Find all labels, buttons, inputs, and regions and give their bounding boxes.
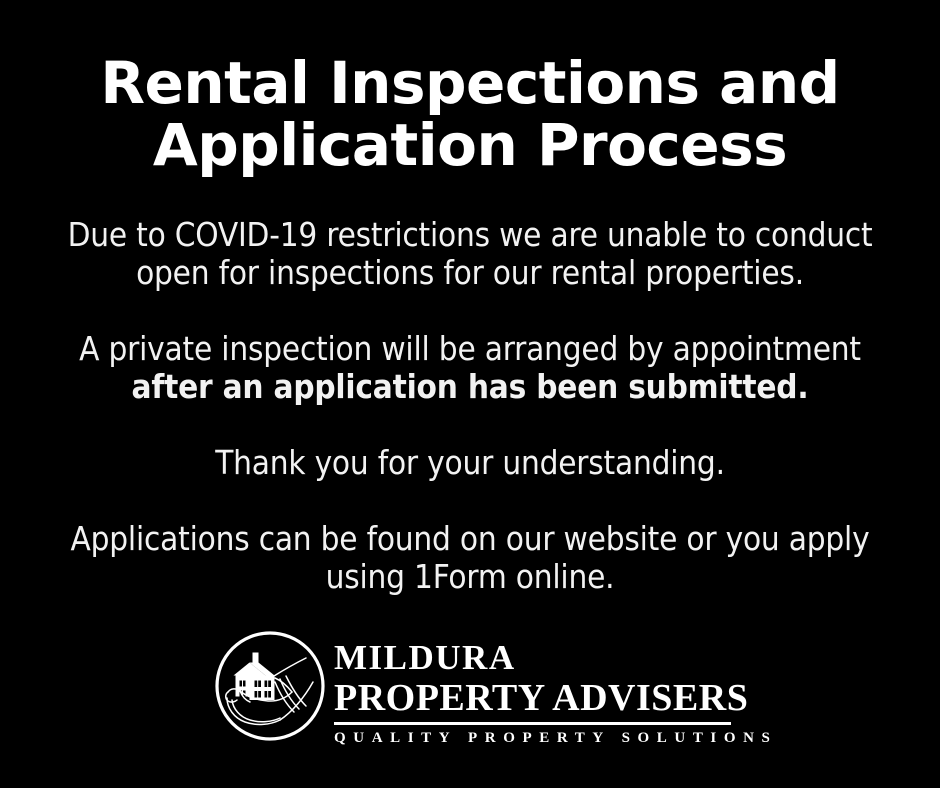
paragraph-spacer — [50, 482, 890, 520]
paragraph-3-line-1: Thank you for your understanding. — [50, 444, 890, 482]
hand-holding-house-circle-icon — [214, 630, 326, 742]
logo-divider-rule — [334, 722, 731, 725]
paragraph-private-inspection: A private inspection will be arranged by… — [50, 330, 890, 406]
body-copy: Due to COVID-19 restrictions we are unab… — [50, 216, 890, 596]
logo-name-line-2: PROPERTY ADVISERS — [334, 679, 732, 717]
paragraph-1-line-1: Due to COVID-19 restrictions we are unab… — [50, 216, 890, 254]
paragraph-2-line-2-bold: after an application has been submitted. — [50, 368, 890, 406]
paragraph-thank-you: Thank you for your understanding. — [50, 444, 890, 482]
logo-name-line-1: MILDURA — [334, 640, 732, 675]
paragraph-4-line-1: Applications can be found on our website… — [50, 520, 890, 558]
page-title-line-2: Application Process — [0, 114, 940, 176]
logo-tagline: QUALITY PROPERTY SOLUTIONS — [334, 731, 732, 746]
paragraph-2-line-1: A private inspection will be arranged by… — [50, 330, 890, 368]
page-title-line-1: Rental Inspections and — [0, 52, 940, 114]
paragraph-spacer — [50, 406, 890, 444]
paragraph-spacer — [50, 292, 890, 330]
page-title: Rental Inspections and Application Proce… — [0, 52, 940, 176]
paragraph-covid-restrictions: Due to COVID-19 restrictions we are unab… — [50, 216, 890, 292]
poster-canvas: Rental Inspections and Application Proce… — [0, 0, 940, 788]
company-logo: MILDURA PROPERTY ADVISERS QUALITY PROPER… — [214, 628, 734, 748]
logo-wordmark: MILDURA PROPERTY ADVISERS QUALITY PROPER… — [334, 640, 732, 746]
paragraph-1-line-2: open for inspections for our rental prop… — [50, 254, 890, 292]
paragraph-4-line-2: using 1Form online. — [50, 558, 890, 596]
paragraph-applications: Applications can be found on our website… — [50, 520, 890, 596]
